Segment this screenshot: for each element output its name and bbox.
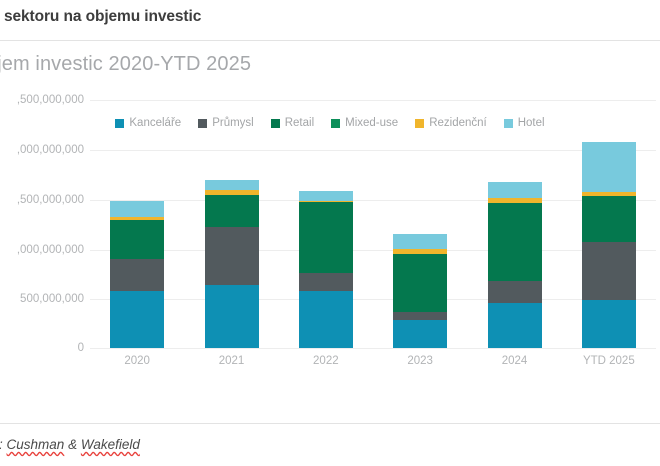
- header-divider: [0, 40, 660, 41]
- bar-segment-pr-mysl[interactable]: [582, 242, 636, 300]
- bar-segment-hotel[interactable]: [299, 191, 353, 200]
- bar-segment-kancel-e[interactable]: [205, 285, 259, 348]
- x-tick-label: 2023: [375, 355, 465, 367]
- y-tick-label: 500,000,000: [0, 293, 84, 305]
- x-tick-label: 2022: [281, 355, 371, 367]
- bar-segment-hotel[interactable]: [205, 180, 259, 190]
- bar-segment-pr-mysl[interactable]: [110, 259, 164, 291]
- source-ampersand: &: [68, 437, 77, 452]
- source-note: roj: Cushman & Wakefield: [0, 437, 140, 452]
- bar-segment-kancel-e[interactable]: [488, 303, 542, 348]
- page-title: díl sektoru na objemu investic: [0, 8, 201, 26]
- x-tick-label: YTD 2025: [564, 355, 654, 367]
- bar-segment-retail[interactable]: [205, 195, 259, 227]
- gridline: [90, 348, 656, 349]
- source-prefix: roj:: [0, 437, 3, 452]
- bar-segment-retail[interactable]: [299, 202, 353, 272]
- bar-segment-hotel[interactable]: [393, 234, 447, 248]
- bar-stack: [393, 234, 447, 348]
- bar-segment-retail[interactable]: [110, 220, 164, 260]
- y-tick-label: ,500,000,000: [0, 94, 84, 106]
- bar-segment-hotel[interactable]: [110, 201, 164, 216]
- y-tick-label: ,000,000,000: [0, 244, 84, 256]
- bar-segment-pr-mysl[interactable]: [205, 227, 259, 285]
- y-tick-label: 0: [0, 342, 84, 354]
- bar-stack: [488, 182, 542, 348]
- bar-stack: [582, 142, 636, 348]
- bar-segment-pr-mysl[interactable]: [488, 281, 542, 303]
- footer-divider: [0, 423, 660, 424]
- bar-segment-hotel[interactable]: [488, 182, 542, 198]
- bar-segment-hotel[interactable]: [582, 142, 636, 192]
- bar-segment-pr-mysl[interactable]: [393, 312, 447, 320]
- x-tick-label: 2021: [187, 355, 277, 367]
- bar-segment-kancel-e[interactable]: [582, 300, 636, 348]
- chart-title: bjem investic 2020-YTD 2025: [0, 53, 251, 76]
- x-tick-label: 2024: [470, 355, 560, 367]
- bar-stack: [205, 180, 259, 348]
- chart-slide: díl sektoru na objemu investic bjem inve…: [0, 0, 660, 466]
- bar-segment-pr-mysl[interactable]: [299, 273, 353, 292]
- bar-segment-kancel-e[interactable]: [393, 320, 447, 348]
- source-word-wakefield: Wakefield: [81, 437, 140, 452]
- bar-segment-kancel-e[interactable]: [110, 291, 164, 348]
- bar-stack: [299, 191, 353, 348]
- x-tick-label: 2020: [92, 355, 182, 367]
- bar-segment-retail[interactable]: [393, 254, 447, 312]
- y-tick-label: ,000,000,000: [0, 144, 84, 156]
- bar-segment-kancel-e[interactable]: [299, 291, 353, 348]
- bar-segment-retail[interactable]: [488, 203, 542, 281]
- y-tick-label: ,500,000,000: [0, 194, 84, 206]
- x-axis-labels: 20202021202220232024YTD 2025: [90, 355, 656, 377]
- bar-stack: [110, 201, 164, 348]
- bar-series-container: [90, 92, 656, 348]
- source-word-cushman: Cushman: [7, 437, 65, 452]
- bar-segment-retail[interactable]: [582, 196, 636, 242]
